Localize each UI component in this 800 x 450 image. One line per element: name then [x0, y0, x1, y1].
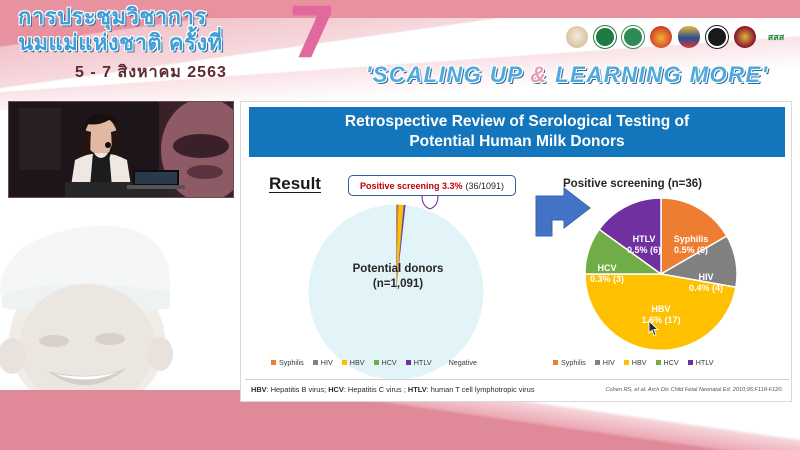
potential-donors-label-line1: Potential donors [313, 262, 483, 277]
speaker-video-thumbnail[interactable] [8, 101, 234, 198]
legend-item-htlv: HTLV [406, 358, 432, 367]
legend-item-htlv-right: HTLV [688, 358, 714, 367]
tagline-part2: LEARNING MORE' [548, 62, 769, 87]
legend-label-htlv: HTLV [414, 358, 432, 367]
footnote-hcv-key: HCV [328, 385, 344, 394]
legend-swatch-hiv-right [595, 360, 600, 365]
slice-label-htlv-value: 0.5% (6) [627, 245, 661, 255]
footnote-hcv-text: : Hepatitis C virus ; [344, 385, 408, 394]
mouse-pointer-icon [648, 320, 660, 337]
callout-percent: Positive screening 3.3% [360, 181, 463, 191]
legend-swatch-syphilis-right [553, 360, 558, 365]
abbreviation-footnote: HBV: Hepatitis B virus; HCV: Hepatitis C… [251, 385, 534, 394]
legend-item-hbv-right: HBV [624, 358, 647, 367]
slide-title-line2: Potential Human Milk Donors [409, 132, 624, 152]
result-heading: Result [269, 174, 321, 194]
legend-label-negative: Negative [449, 358, 477, 367]
slice-label-hiv-value: 0.4% (4) [689, 283, 723, 293]
legend-label-syphilis: Syphilis [279, 358, 304, 367]
sponsor-logos-row: สสส [566, 26, 790, 48]
legend-item-hiv-right: HIV [595, 358, 615, 367]
legend-swatch-hbv [342, 360, 347, 365]
legend-item-hcv-right: HCV [656, 358, 679, 367]
legend-swatch-htlv-right [688, 360, 693, 365]
slice-label-hcv-name: HCV [597, 263, 616, 273]
presentation-screen: การประชุมวิชาการ นมแม่แห่งชาติ ครั้งที่ … [0, 0, 800, 450]
legend-left: Syphilis HIV HBV HCV HTLV Negative [271, 358, 477, 367]
legend-item-syphilis: Syphilis [271, 358, 304, 367]
potential-donors-label: Potential donors (n=1,091) [313, 262, 483, 292]
logo-sss-thaihealth-icon: สสส [762, 26, 790, 48]
legend-swatch-htlv [406, 360, 411, 365]
slice-label-hiv-name: HIV [698, 272, 713, 282]
logo-black-circle-emblem-icon [706, 26, 728, 48]
logo-royal-orange-crest-icon [650, 26, 672, 48]
callout-fraction: (36/1091) [466, 181, 505, 191]
potential-donors-label-line2: (n=1,091) [313, 277, 483, 292]
legend-label-hiv: HIV [321, 358, 333, 367]
legend-label-hcv: HCV [382, 358, 397, 367]
logo-thai-breastfeeding-icon [566, 26, 588, 48]
tagline-ampersand: & [530, 62, 547, 87]
footnote-htlv-key: HTLV [408, 385, 427, 394]
legend-item-hiv: HIV [313, 358, 333, 367]
legend-swatch-negative [441, 360, 446, 365]
slice-label-htlv-name: HTLV [633, 234, 656, 244]
legend-label-syphilis-right: Syphilis [561, 358, 586, 367]
slice-label-syphilis-value: 0.5% (6) [674, 245, 708, 255]
legend-swatch-hbv-right [624, 360, 629, 365]
legend-swatch-syphilis [271, 360, 276, 365]
slide-panel: Retrospective Review of Serological Test… [240, 101, 792, 402]
legend-swatch-hiv [313, 360, 318, 365]
legend-label-hbv: HBV [350, 358, 365, 367]
footnote-hbv-key: HBV [251, 385, 267, 394]
positive-screening-callout: Positive screening 3.3% (36/1091) [348, 175, 516, 196]
slide-footnote-bar: HBV: Hepatitis B virus; HCV: Hepatitis C… [245, 379, 789, 399]
slice-label-syphilis-name: Syphilis [674, 234, 709, 244]
logo-dark-red-crest-icon [734, 26, 756, 48]
slice-label-hcv-value: 0.3% (3) [590, 274, 624, 284]
legend-label-htlv-right: HTLV [696, 358, 714, 367]
footnote-htlv-text: : human T cell lymphotropic virus [427, 385, 535, 394]
logo-health-dept-green-icon [622, 26, 644, 48]
conference-thai-title: การประชุมวิชาการ นมแม่แห่งชาติ ครั้งที่ [18, 4, 318, 56]
legend-label-hcv-right: HCV [664, 358, 679, 367]
legend-item-hcv: HCV [374, 358, 397, 367]
legend-label-hbv-right: HBV [632, 358, 647, 367]
positive-screening-pie-chart: Syphilis 0.5% (6) HIV 0.4% (4) HBV 1.6% … [581, 194, 741, 354]
tagline-part1: 'SCALING UP [366, 62, 530, 87]
conference-title-line2: นมแม่แห่งชาติ ครั้งที่ [18, 30, 318, 56]
conference-edition-number: 7 [288, 0, 337, 68]
legend-item-hbv: HBV [342, 358, 365, 367]
conference-title-line1: การประชุมวิชาการ [18, 4, 318, 30]
positive-screening-chart-title: Positive screening (n=36) [563, 178, 793, 190]
logo-ministry-health-green-icon [594, 26, 616, 48]
conference-date: 5 - 7 สิงหาคม 2563 [75, 60, 227, 85]
legend-label-hiv-right: HIV [603, 358, 615, 367]
footnote-hbv-text: : Hepatitis B virus; [267, 385, 329, 394]
legend-item-negative: Negative [441, 358, 477, 367]
legend-swatch-hcv [374, 360, 379, 365]
slide-title: Retrospective Review of Serological Test… [249, 107, 785, 157]
legend-item-syphilis-right: Syphilis [553, 358, 586, 367]
logo-royal-blue-crest-icon [678, 26, 700, 48]
legend-swatch-hcv-right [656, 360, 661, 365]
source-citation: Cohen RS, et al. Arch Dis Child Fetal Ne… [605, 387, 783, 393]
conference-tagline: 'SCALING UP & LEARNING MORE' [366, 62, 768, 88]
slide-title-line1: Retrospective Review of Serological Test… [345, 112, 689, 132]
slice-label-hbv-name: HBV [651, 304, 670, 314]
legend-right: Syphilis HIV HBV HCV HTLV [553, 358, 714, 367]
